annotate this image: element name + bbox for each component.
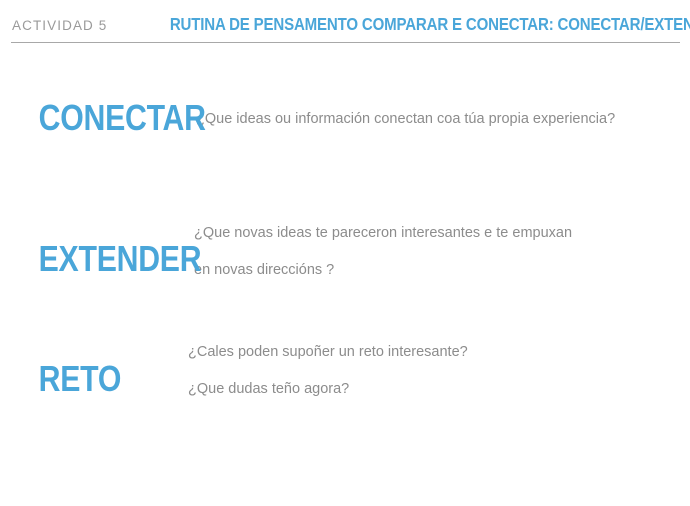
thinking-routine-body: CONECTAR ¿Que ideas ou información conec…	[0, 46, 690, 506]
routine-prompt-extender: ¿Que novas ideas te pareceron interesant…	[148, 212, 690, 289]
routine-row-reto: RETO ¿Cales poden supoñer un reto intere…	[0, 332, 690, 408]
prompt-line: en novas direccións ?	[194, 252, 672, 289]
routine-prompt-conectar: ¿Que ideas ou información conectan coa t…	[148, 94, 690, 138]
routine-term-conectar: CONECTAR	[0, 94, 124, 137]
prompt-line: ¿Cales poden supoñer un reto interesante…	[188, 334, 672, 371]
prompt-line: ¿Que dudas teño agora?	[188, 371, 672, 408]
activity-label: ACTIVIDAD 5	[12, 18, 107, 33]
slide-header: ACTIVIDAD 5 RUTINA DE PENSAMENTO COMPARA…	[0, 0, 690, 46]
header-divider	[11, 42, 680, 43]
routine-term-reto: RETO	[0, 332, 124, 398]
header-text-group: ACTIVIDAD 5 RUTINA DE PENSAMENTO COMPARA…	[12, 14, 690, 35]
routine-term-extender: EXTENDER	[0, 212, 124, 278]
prompt-line: ¿Que novas ideas te pareceron interesant…	[194, 215, 672, 252]
page-title: RUTINA DE PENSAMENTO COMPARAR E CONECTAR…	[170, 14, 690, 35]
routine-row-conectar: CONECTAR ¿Que ideas ou información conec…	[0, 94, 690, 138]
routine-row-extender: EXTENDER ¿Que novas ideas te pareceron i…	[0, 212, 690, 289]
prompt-line: ¿Que ideas ou información conectan coa t…	[196, 101, 672, 138]
routine-prompt-reto: ¿Cales poden supoñer un reto interesante…	[148, 332, 690, 408]
